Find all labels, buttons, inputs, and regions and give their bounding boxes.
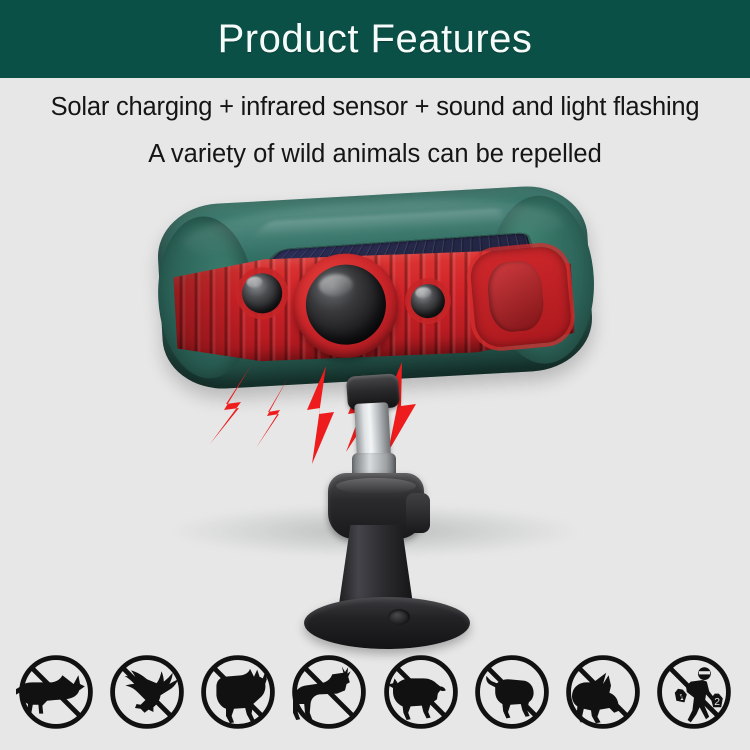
no-deer-icon xyxy=(289,652,369,732)
product-image xyxy=(0,175,750,630)
feature-line-1: Solar charging + infrared sensor + sound… xyxy=(0,95,750,121)
repelled-animals-row: 2 xyxy=(0,638,750,746)
feature-line-2: A variety of wild animals can be repelle… xyxy=(0,142,750,168)
header-banner: Product Features xyxy=(0,0,750,78)
ball-joint-wing xyxy=(406,493,430,533)
page-title: Product Features xyxy=(218,19,533,59)
subtitle-block: Solar charging + infrared sensor + sound… xyxy=(0,78,750,167)
pir-dome-sensor xyxy=(304,262,388,346)
no-boar-icon xyxy=(381,652,461,732)
no-eagle-icon xyxy=(107,652,187,732)
no-wolf-icon xyxy=(198,652,278,732)
no-rabbit-icon xyxy=(563,652,643,732)
svg-text:2: 2 xyxy=(714,697,720,708)
base-screw-hole xyxy=(388,609,410,625)
speaker-plate xyxy=(469,245,573,349)
product-feature-page: Product Features Solar charging + infrar… xyxy=(0,0,750,750)
mount-bracket xyxy=(300,375,480,625)
no-monkey-icon xyxy=(472,652,552,732)
no-fox-icon xyxy=(16,652,96,732)
no-thief-icon: 2 xyxy=(654,652,734,732)
